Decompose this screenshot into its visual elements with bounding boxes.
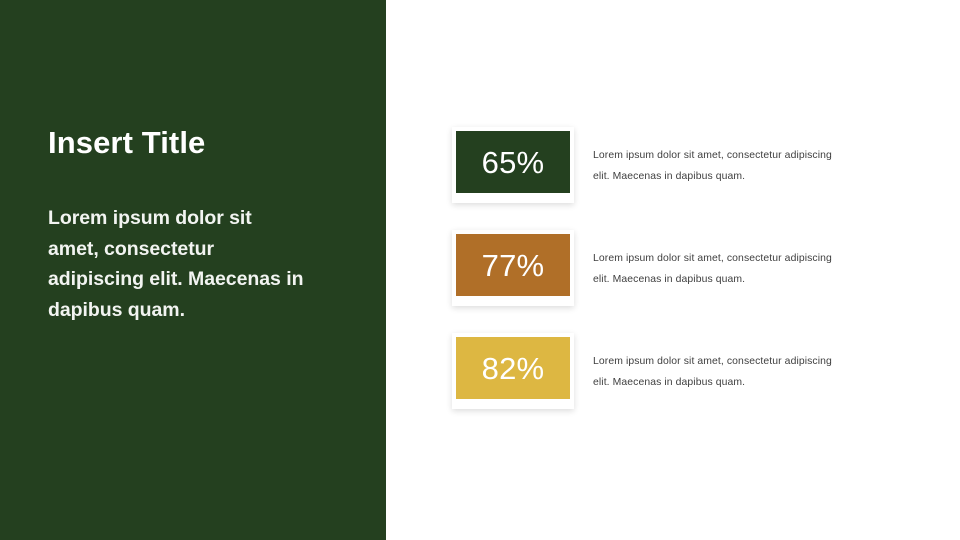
stat-swatch-3: 82% [456, 337, 570, 399]
stat-value-2: 77% [482, 250, 545, 281]
stat-value-1: 65% [482, 147, 545, 178]
list-item: 82% Lorem ipsum dolor sit amet, consecte… [452, 333, 872, 436]
list-item: 65% Lorem ipsum dolor sit amet, consecte… [452, 127, 872, 230]
stat-swatch-2: 77% [456, 234, 570, 296]
stat-description-2: Lorem ipsum dolor sit amet, consectetur … [593, 248, 845, 290]
slide-canvas: Insert Title Lorem ipsum dolor sit amet,… [0, 0, 960, 540]
stat-swatch-1: 65% [456, 131, 570, 193]
stat-list: 65% Lorem ipsum dolor sit amet, consecte… [452, 127, 872, 436]
stat-card-3[interactable]: 82% [452, 333, 574, 409]
stat-description-1: Lorem ipsum dolor sit amet, consectetur … [593, 145, 845, 187]
page-title: Insert Title [48, 124, 348, 162]
left-green-panel: Insert Title Lorem ipsum dolor sit amet,… [0, 0, 386, 540]
stat-card-1[interactable]: 65% [452, 127, 574, 203]
stat-description-3: Lorem ipsum dolor sit amet, consectetur … [593, 351, 845, 393]
stat-value-3: 82% [482, 353, 545, 384]
page-subtitle: Lorem ipsum dolor sit amet, consectetur … [48, 203, 306, 325]
stat-card-2[interactable]: 77% [452, 230, 574, 306]
list-item: 77% Lorem ipsum dolor sit amet, consecte… [452, 230, 872, 333]
